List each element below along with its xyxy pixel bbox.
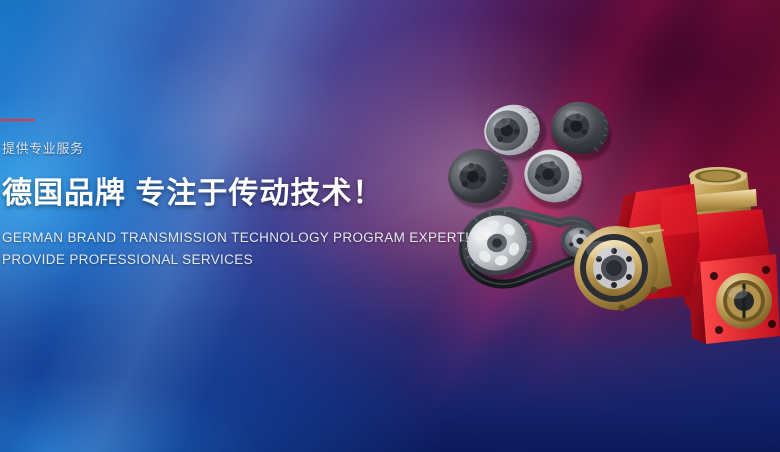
promo-banner: 提供专业服务 德国品牌 专注于传动技术！ GERMAN BRAND TRANSM… (0, 0, 780, 452)
headline-block: 提供专业服务 德国品牌 专注于传动技术！ GERMAN BRAND TRANSM… (0, 0, 420, 452)
eyebrow-text: 提供专业服务 (2, 138, 84, 157)
subtitle-line-2: PROVIDE PROFESSIONAL SERVICES (2, 252, 253, 267)
page-title: 德国品牌 专注于传动技术！ (2, 168, 383, 212)
accent-rule (0, 119, 35, 121)
subtitle-line-1: GERMAN BRAND TRANSMISSION TECHNOLOGY PRO… (2, 230, 469, 245)
right-angle-gearbox-front (574, 184, 700, 311)
